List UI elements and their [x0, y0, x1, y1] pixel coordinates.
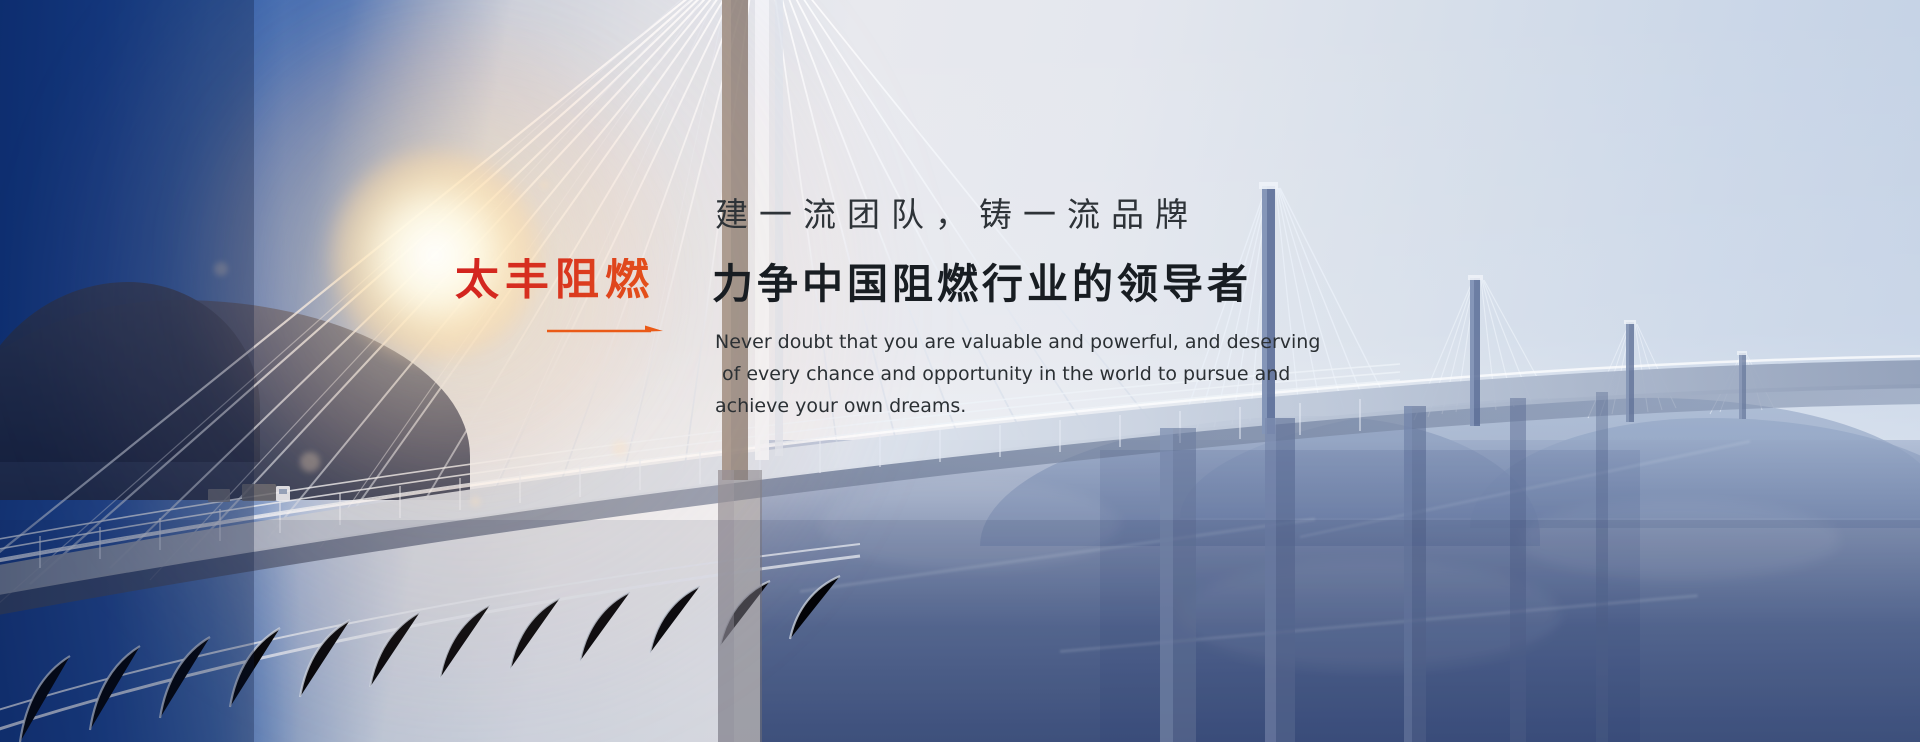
- banner-content: 太丰阻燃 建一流团队，铸一流品牌 力争中国阻燃行业的领导者 Never doub…: [0, 0, 1920, 742]
- headline-primary: 建一流团队，铸一流品牌: [715, 188, 1199, 236]
- description-line-2: of every chance and opportunity in the w…: [715, 358, 1335, 390]
- arrow-right-icon: [547, 324, 663, 336]
- brand-logo-text: 太丰阻燃: [455, 258, 685, 302]
- description-line-3: achieve your own dreams.: [715, 390, 1335, 422]
- hero-description: Never doubt that you are valuable and po…: [715, 326, 1335, 422]
- description-line-1: Never doubt that you are valuable and po…: [715, 326, 1335, 358]
- hero-banner: 太丰阻燃 建一流团队，铸一流品牌 力争中国阻燃行业的领导者 Never doub…: [0, 0, 1920, 742]
- brand-logo[interactable]: 太丰阻燃: [455, 258, 685, 336]
- headline-secondary: 力争中国阻燃行业的领导者: [712, 250, 1252, 310]
